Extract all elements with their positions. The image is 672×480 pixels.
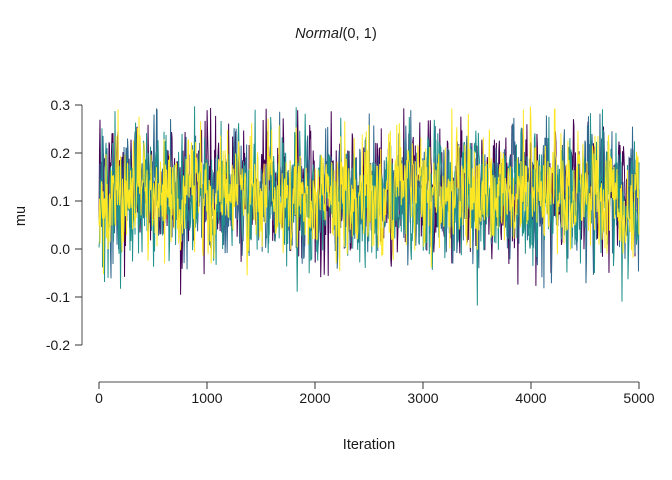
trace-lines-layer: [0, 0, 672, 480]
trace-plot-figure: Normal(0, 1) mu Iteration 0.30.20.10.0-0…: [0, 0, 672, 480]
